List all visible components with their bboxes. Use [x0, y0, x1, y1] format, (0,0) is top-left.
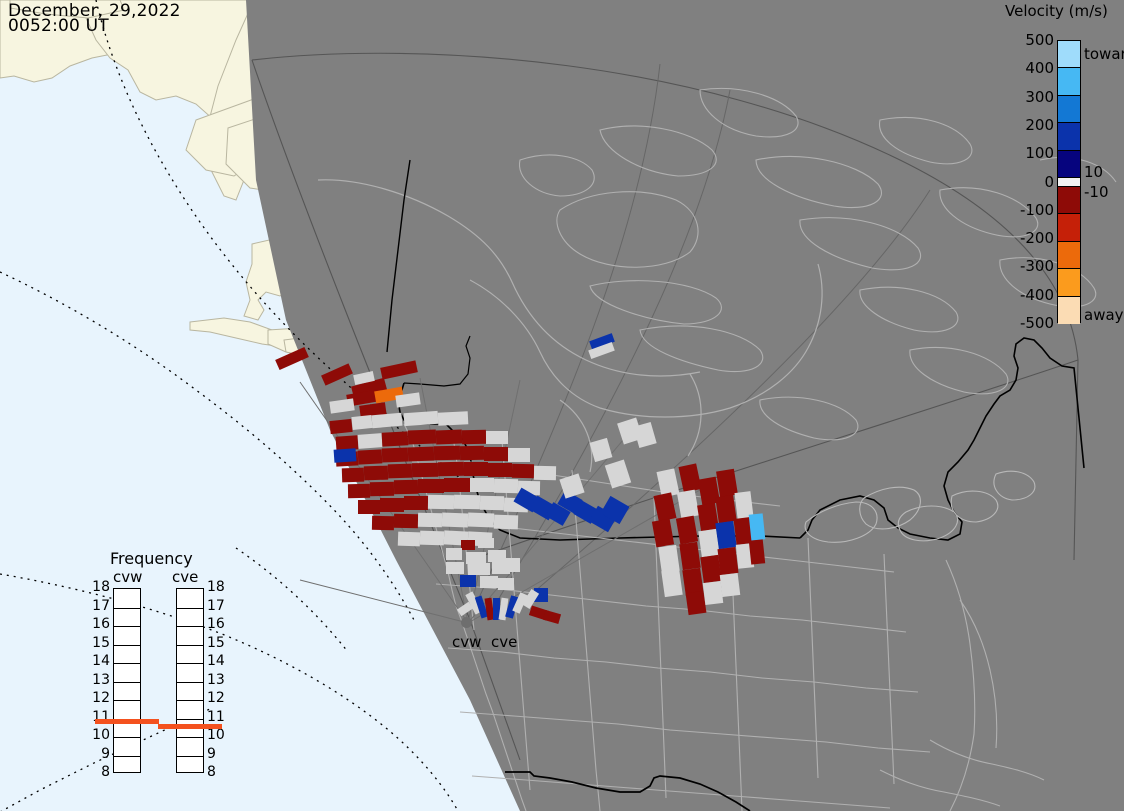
- frequency-gridline: [114, 737, 140, 738]
- velocity-cell: [461, 540, 475, 550]
- velocity-cell: [749, 513, 766, 540]
- frequency-tick-right-12: 12: [207, 690, 229, 706]
- velocity-cell: [478, 538, 494, 548]
- colorbar-band--350: [1058, 269, 1080, 296]
- colorbar-band--450: [1058, 297, 1080, 324]
- frequency-tick-right-15: 15: [207, 635, 229, 651]
- velocity-cell: [395, 392, 420, 407]
- colorbar-band-50: [1058, 151, 1080, 178]
- velocity-colorbar: [1057, 40, 1081, 323]
- velocity-cell: [442, 513, 468, 528]
- velocity-cell: [371, 413, 402, 429]
- velocity-cell: [382, 431, 409, 446]
- colorbar-band-350: [1058, 68, 1080, 95]
- velocity-cell: [418, 479, 444, 493]
- frequency-tick-right-11: 11: [207, 709, 229, 725]
- frequency-tick-left-16: 16: [88, 616, 110, 632]
- frequency-gridline: [114, 663, 140, 664]
- velocity-cell: [457, 602, 473, 616]
- velocity-cell: [677, 490, 699, 519]
- frequency-tick-right-16: 16: [207, 616, 229, 632]
- velocity-cell: [434, 446, 460, 460]
- velocity-cell: [498, 578, 514, 590]
- velocity-cell: [394, 480, 418, 494]
- superdarn-velocity-map: cvw cve December, 29,2022 0052:00 UT Vel…: [0, 0, 1124, 811]
- velocity-cell: [494, 479, 518, 493]
- colorbar-tick-200: 200: [1006, 116, 1054, 134]
- velocity-cell: [372, 516, 394, 530]
- frequency-bar-cvw: [113, 588, 141, 773]
- velocity-cell: [321, 363, 353, 385]
- velocity-cell: [484, 447, 508, 461]
- title-time: 0052:00 UT: [8, 16, 109, 36]
- frequency-title: Frequency: [110, 549, 193, 568]
- velocity-cell: [364, 466, 388, 481]
- velocity-cell: [420, 531, 444, 546]
- velocity-data-cells: [0, 0, 1124, 811]
- colorbar-tick--500: -500: [1006, 314, 1054, 332]
- frequency-gridline: [177, 756, 203, 757]
- frequency-gridline: [114, 700, 140, 701]
- frequency-tick-left-13: 13: [88, 672, 110, 688]
- frequency-station-label-cvw: cvw: [113, 568, 142, 586]
- colorbar-tick--300: -300: [1006, 257, 1054, 275]
- velocity-cell: [720, 573, 741, 597]
- frequency-tick-left-8: 8: [88, 764, 110, 780]
- velocity-cell: [446, 562, 464, 574]
- colorbar-band-250: [1058, 96, 1080, 123]
- velocity-cell: [358, 433, 383, 449]
- radar-site-marker: [461, 617, 472, 628]
- colorbar-tick--400: -400: [1006, 286, 1054, 304]
- velocity-cell: [342, 468, 364, 483]
- frequency-tick-left-14: 14: [88, 653, 110, 669]
- velocity-cell: [506, 558, 520, 572]
- frequency-tick-left-10: 10: [88, 727, 110, 743]
- velocity-cell: [358, 449, 383, 464]
- frequency-marker-cve: [158, 724, 222, 729]
- velocity-cell: [404, 496, 428, 510]
- velocity-cell: [486, 431, 508, 444]
- radar-label-cvw: cvw: [452, 633, 481, 651]
- velocity-cell: [678, 463, 701, 492]
- velocity-cell: [679, 542, 700, 570]
- frequency-gridline: [177, 737, 203, 738]
- velocity-cell: [661, 569, 682, 597]
- colorbar-band--250: [1058, 242, 1080, 269]
- frequency-gridline: [177, 608, 203, 609]
- velocity-cell: [394, 514, 418, 528]
- velocity-cell: [329, 419, 352, 434]
- velocity-cell: [348, 484, 370, 498]
- frequency-tick-right-10: 10: [207, 727, 229, 743]
- colorbar-tick--200: -200: [1006, 229, 1054, 247]
- velocity-cell: [534, 466, 556, 480]
- colorbar-toward-label: toward: [1084, 45, 1124, 63]
- velocity-cell: [480, 576, 498, 588]
- velocity-cell: [444, 478, 470, 492]
- velocity-cell: [382, 448, 408, 463]
- frequency-bar-cve: [176, 588, 204, 773]
- velocity-cell: [590, 438, 613, 462]
- frequency-gridline: [114, 682, 140, 683]
- velocity-cell: [468, 563, 490, 575]
- velocity-cell: [488, 463, 512, 477]
- frequency-tick-left-12: 12: [88, 690, 110, 706]
- velocity-cell: [508, 448, 530, 462]
- colorbar-tick-400: 400: [1006, 59, 1054, 77]
- velocity-cell: [676, 516, 698, 545]
- frequency-tick-right-9: 9: [207, 746, 229, 762]
- velocity-cell: [605, 459, 631, 488]
- frequency-gridline: [177, 682, 203, 683]
- velocity-cell: [460, 446, 484, 460]
- colorbar-negative-threshold: -10: [1084, 183, 1109, 201]
- frequency-marker-cvw: [95, 719, 159, 724]
- velocity-cell: [436, 430, 462, 445]
- velocity-cell: [334, 448, 357, 463]
- velocity-cell: [462, 430, 486, 444]
- frequency-tick-left-15: 15: [88, 635, 110, 651]
- frequency-gridline: [177, 645, 203, 646]
- colorbar-away-label: away: [1084, 306, 1124, 324]
- frequency-tick-right-8: 8: [207, 764, 229, 780]
- colorbar-tick-100: 100: [1006, 144, 1054, 162]
- velocity-cell: [398, 532, 420, 547]
- frequency-gridline: [177, 719, 203, 720]
- velocity-cell: [633, 422, 656, 448]
- velocity-cell: [370, 482, 394, 496]
- frequency-tick-right-13: 13: [207, 672, 229, 688]
- colorbar-band-150: [1058, 123, 1080, 150]
- velocity-cell: [446, 548, 462, 560]
- colorbar-tick-500: 500: [1006, 31, 1054, 49]
- frequency-tick-left-17: 17: [88, 598, 110, 614]
- velocity-cell: [329, 398, 354, 413]
- colorbar-tick-0: 0: [1006, 173, 1054, 191]
- colorbar-tick-300: 300: [1006, 88, 1054, 106]
- frequency-gridline: [177, 700, 203, 701]
- frequency-gridline: [177, 626, 203, 627]
- colorbar-tick--100: -100: [1006, 201, 1054, 219]
- velocity-cell: [438, 462, 464, 476]
- velocity-cell: [380, 360, 418, 379]
- velocity-cell: [388, 464, 412, 479]
- velocity-cell: [468, 513, 494, 528]
- frequency-gridline: [114, 626, 140, 627]
- radar-label-cve: cve: [491, 633, 517, 651]
- velocity-cell: [464, 462, 488, 476]
- velocity-cell: [543, 610, 561, 624]
- velocity-cell: [480, 496, 504, 510]
- velocity-cell: [454, 495, 480, 509]
- velocity-cell: [408, 430, 436, 445]
- frequency-station-label-cve: cve: [172, 568, 198, 586]
- velocity-cell: [380, 498, 404, 512]
- velocity-cell: [408, 447, 434, 462]
- velocity-cell: [494, 515, 518, 530]
- velocity-cell: [358, 500, 380, 514]
- velocity-cell: [412, 463, 438, 477]
- colorbar-band-450: [1058, 41, 1080, 68]
- velocity-cell: [717, 547, 738, 575]
- colorbar-band--50: [1058, 187, 1080, 214]
- velocity-cell: [488, 550, 506, 562]
- velocity-cell: [404, 411, 439, 426]
- velocity-cell: [438, 411, 469, 426]
- colorbar-band--150: [1058, 214, 1080, 241]
- colorbar-title: Velocity (m/s): [1005, 2, 1108, 20]
- velocity-cell: [470, 478, 494, 492]
- frequency-tick-left-18: 18: [88, 579, 110, 595]
- frequency-tick-right-14: 14: [207, 653, 229, 669]
- frequency-tick-right-18: 18: [207, 579, 229, 595]
- frequency-gridline: [114, 756, 140, 757]
- velocity-cell: [512, 464, 534, 478]
- colorbar-band-0: [1058, 178, 1080, 187]
- velocity-cell: [418, 513, 442, 527]
- velocity-cell: [275, 347, 309, 370]
- velocity-cell: [460, 575, 476, 587]
- velocity-cell: [749, 539, 765, 564]
- frequency-tick-left-9: 9: [88, 746, 110, 762]
- colorbar-positive-threshold: 10: [1084, 163, 1103, 181]
- velocity-cell: [428, 495, 454, 509]
- frequency-gridline: [177, 663, 203, 664]
- frequency-gridline: [114, 645, 140, 646]
- velocity-cell: [652, 519, 674, 548]
- frequency-gridline: [114, 608, 140, 609]
- velocity-cell: [351, 415, 372, 430]
- frequency-tick-right-17: 17: [207, 598, 229, 614]
- velocity-cell: [653, 492, 676, 521]
